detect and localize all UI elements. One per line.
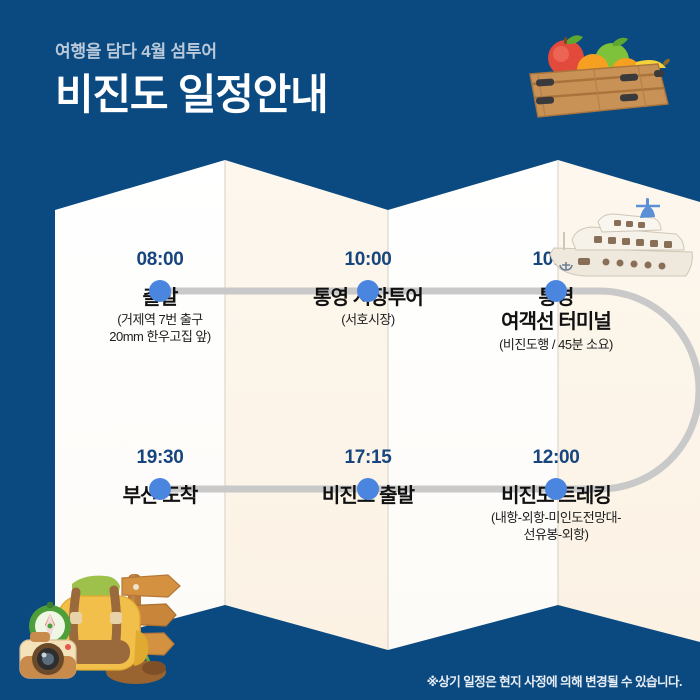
stop-time: 19:30 (60, 448, 260, 467)
stop-time: 10:00 (268, 250, 468, 269)
timeline-node-1930[interactable] (149, 478, 171, 500)
poster-title: 비진도 일정안내 (55, 72, 485, 118)
stop-detail: (내항-외항-미인도전망대- 선유봉-외항) (456, 510, 656, 544)
stop-time: 12:00 (456, 448, 656, 467)
poster-subtitle: 여행을 담다 4월 섬투어 (55, 42, 485, 62)
travel-gear-illustration (10, 548, 210, 693)
poster-root: 08:00 출발 (거제역 7번 출구 20mm 한우고집 앞) 10:00 통… (0, 0, 700, 700)
footnote-disclaimer: ※상기 일정은 현지 사정에 의해 변경될 수 있습니다. (427, 671, 682, 690)
map-panel-2 (225, 160, 388, 650)
stop-time: 17:15 (268, 448, 468, 467)
stop-detail: (비진도행 / 45분 소요) (456, 337, 656, 354)
timeline-node-1715[interactable] (357, 478, 379, 500)
timeline-node-1000[interactable] (357, 280, 379, 302)
stop-time: 08:00 (60, 250, 260, 269)
map-panel-3 (388, 160, 558, 650)
timeline-node-1200[interactable] (545, 478, 567, 500)
stop-detail: (서호시장) (268, 312, 468, 329)
timeline-node-0800[interactable] (149, 280, 171, 302)
poster-header: 여행을 담다 4월 섬투어 비진도 일정안내 (55, 42, 485, 119)
stop-detail: (거제역 7번 출구 20mm 한우고집 앞) (60, 312, 260, 346)
ferry-ship-illustration (536, 192, 696, 284)
fruit-crate-illustration (508, 18, 688, 123)
